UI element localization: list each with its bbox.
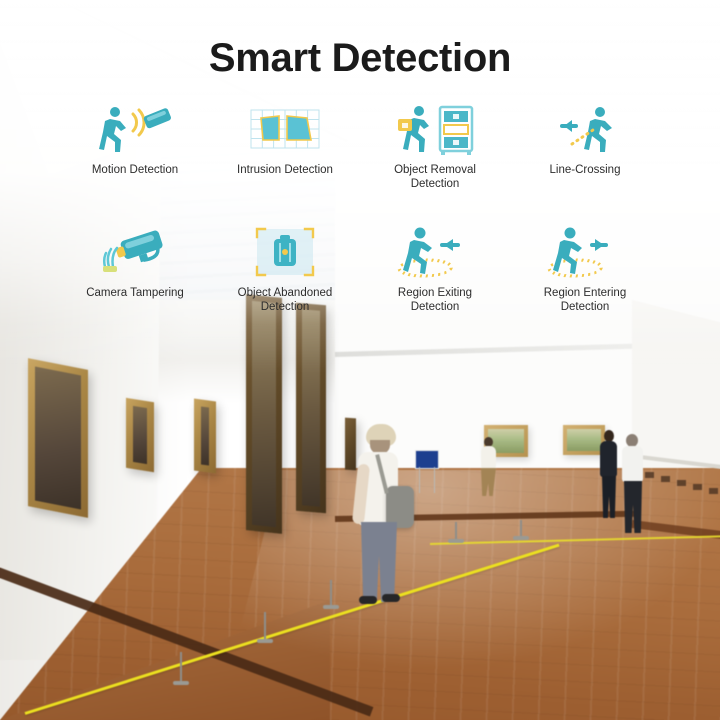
feature-row-1: Motion Detection Int [60, 100, 660, 191]
caption-line-2: Detection [411, 178, 460, 190]
caption-line-1: Region Exiting [398, 287, 472, 299]
caption-line-2: Detection [411, 301, 460, 313]
object-abandoned-detection-icon [247, 223, 323, 281]
region-entering-detection-icon [542, 223, 628, 281]
overlay-content: Smart Detection [0, 0, 720, 720]
feature-caption: Motion Detection [65, 164, 205, 178]
feature-intrusion-detection[interactable]: Intrusion Detection [210, 100, 360, 191]
feature-object-abandoned-detection[interactable]: Object Abandoned Detection [210, 223, 360, 314]
caption-line-1: Object Abandoned [238, 287, 333, 299]
camera-tampering-icon [93, 223, 177, 281]
feature-region-entering-detection[interactable]: Region Entering Detection [510, 223, 660, 314]
feature-motion-detection[interactable]: Motion Detection [60, 100, 210, 191]
caption-line-1: Region Entering [544, 287, 626, 299]
feature-caption: Camera Tampering [65, 287, 205, 301]
feature-caption: Line-Crossing [515, 164, 655, 178]
caption-line-1: Object Removal [394, 164, 476, 176]
feature-grid: Motion Detection Int [60, 100, 660, 314]
feature-region-exiting-detection[interactable]: Region Exiting Detection [360, 223, 510, 314]
page-title: Smart Detection [0, 36, 720, 81]
intrusion-detection-icon [245, 100, 325, 158]
feature-caption: Region Entering Detection [515, 287, 655, 314]
feature-row-2: Camera Tampering [60, 223, 660, 314]
smart-detection-banner: Smart Detection [0, 0, 720, 720]
feature-line-crossing[interactable]: Line-Crossing [510, 100, 660, 191]
feature-caption: Object Removal Detection [365, 164, 505, 191]
feature-camera-tampering[interactable]: Camera Tampering [60, 223, 210, 314]
caption-line-2: Detection [561, 301, 610, 313]
feature-caption: Region Exiting Detection [365, 287, 505, 314]
caption-line-2: Detection [261, 301, 310, 313]
feature-caption: Object Abandoned Detection [215, 287, 355, 314]
region-exiting-detection-icon [392, 223, 478, 281]
feature-object-removal-detection[interactable]: Object Removal Detection [360, 100, 510, 191]
motion-detection-icon [95, 100, 175, 158]
line-crossing-icon [542, 100, 628, 158]
feature-caption: Intrusion Detection [215, 164, 355, 178]
object-removal-detection-icon [392, 100, 478, 158]
